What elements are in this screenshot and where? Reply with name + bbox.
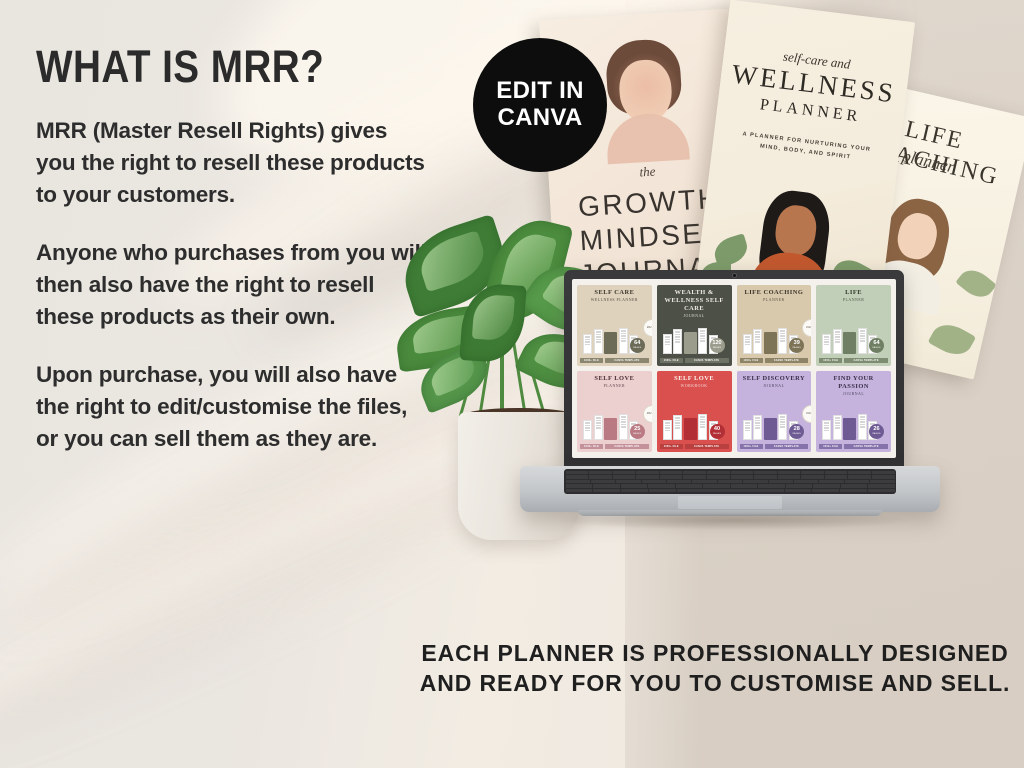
body-paragraph-2: Anyone who purchases from you will then …	[36, 237, 432, 333]
edit-in-canva-badge[interactable]: EDIT IN CANVA	[473, 38, 607, 172]
canva-template-button[interactable]: CANVA TEMPLATE	[844, 358, 888, 364]
page-count-label: PAGES	[793, 347, 801, 349]
page-count-label: PAGES	[872, 433, 880, 435]
keyboard-key[interactable]	[566, 484, 593, 488]
file-count-button[interactable]: 1000+ FILE	[660, 358, 683, 364]
cover-blurb: A PLANNER FOR NURTURING YOUR MIND, BODY,…	[736, 130, 875, 166]
keyboard-key[interactable]	[667, 480, 691, 484]
keyboard-key[interactable]	[825, 475, 848, 479]
keyboard-key[interactable]	[621, 484, 648, 488]
canva-template-button[interactable]: CANVA TEMPLATE	[605, 444, 649, 450]
keyboard-key[interactable]	[566, 471, 589, 475]
product-card-title: SELF DISCOVERY	[740, 375, 809, 383]
page-count-label: PAGES	[713, 433, 721, 435]
page-count-badge: 26PAGES	[869, 424, 884, 439]
keyboard-key[interactable]	[848, 471, 871, 475]
keyboard-key[interactable]	[731, 471, 754, 475]
product-card-buttons: 1000+ FILECANVA TEMPLATE	[819, 358, 888, 364]
keyboard-key[interactable]	[642, 480, 666, 484]
keyboard-key[interactable]	[703, 484, 730, 488]
product-card-buttons: 1000+ FILECANVA TEMPLATE	[580, 444, 649, 450]
product-card-preview: 120PAGES	[660, 321, 729, 356]
leaf-shape	[955, 264, 997, 304]
keyboard-key[interactable]	[731, 484, 758, 488]
keyboard-key[interactable]	[566, 489, 593, 493]
product-card[interactable]: LIFE COACHINGPLANNER39PAGES1000+ FILECAN…	[737, 285, 812, 366]
keyboard-key[interactable]	[718, 480, 742, 484]
keyboard-key[interactable]	[613, 475, 636, 479]
product-card[interactable]: FIND YOUR PASSIONJOURNAL26PAGES1000+ FIL…	[816, 371, 891, 452]
product-card-subtitle: WELLNESS PLANNER	[580, 298, 649, 302]
page-thumbnail	[833, 415, 842, 440]
bottom-tagline: EACH PLANNER IS PROFESSIONALLY DESIGNED …	[418, 638, 1012, 699]
page-thumbnails	[583, 414, 638, 440]
keyboard-key[interactable]	[848, 475, 871, 479]
product-card-title: LIFE	[819, 289, 888, 297]
keyboard-key[interactable]	[801, 475, 824, 479]
page-thumbnail	[673, 329, 682, 354]
product-card-buttons: 1000+ FILECANVA TEMPLATE	[580, 358, 649, 364]
page-count-badge: 25PAGES	[630, 424, 645, 439]
keyboard-key[interactable]	[589, 471, 612, 475]
product-card-preview: 64PAGES	[580, 305, 649, 356]
keyboard-key[interactable]	[819, 480, 843, 484]
product-card-title: SELF LOVE	[580, 375, 649, 383]
keyboard-key[interactable]	[841, 484, 868, 488]
keyboard-key[interactable]	[613, 471, 636, 475]
product-card-subtitle: PLANNER	[740, 298, 809, 302]
page-thumbnail	[858, 414, 867, 440]
file-count-button[interactable]: 1000+ FILE	[740, 358, 763, 364]
page-thumbnail	[698, 414, 707, 440]
page-count-badge: 28PAGES	[789, 424, 804, 439]
keyboard[interactable]	[564, 469, 896, 494]
page-thumbnails	[663, 414, 718, 440]
page-thumbnail-cover	[764, 332, 777, 354]
keyboard-key[interactable]	[621, 489, 648, 493]
page-count-label: PAGES	[872, 347, 880, 349]
keyboard-key[interactable]	[754, 475, 777, 479]
page-thumbnail	[619, 414, 628, 440]
file-count-button[interactable]: 1000+ FILE	[580, 444, 603, 450]
product-card[interactable]: LIFEPLANNER64PAGES1000+ FILECANVA TEMPLA…	[816, 285, 891, 366]
laptop-mockup: SELF CAREWELLNESS PLANNER64PAGES1000+ FI…	[520, 270, 940, 560]
keyboard-key[interactable]	[566, 475, 589, 479]
cover-wellness-planner: self-care and WELLNESS PLANNER A PLANNER…	[695, 0, 915, 312]
laptop-lid: SELF CAREWELLNESS PLANNER64PAGES1000+ FI…	[564, 270, 904, 470]
keyboard-key[interactable]	[845, 480, 869, 484]
product-card[interactable]: SELF DISCOVERYJOURNAL28PAGES1000+ FILECA…	[737, 371, 812, 452]
product-card-title: LIFE COACHING	[740, 289, 809, 297]
keyboard-key[interactable]	[868, 484, 895, 488]
product-card-subtitle: PLANNER	[580, 384, 649, 388]
keyboard-key[interactable]	[660, 471, 683, 475]
page-thumbnail-cover	[604, 418, 617, 440]
page-count-badge: 120PAGES	[710, 338, 725, 353]
page-thumbnail-cover	[604, 332, 617, 354]
illustration-woman	[597, 37, 694, 160]
keyboard-key[interactable]	[794, 480, 818, 484]
product-card-subtitle: JOURNAL	[819, 392, 888, 396]
product-card-buttons: 1000+ FILECANVA TEMPLATE	[660, 358, 729, 364]
page-title: WHAT IS MRR?	[36, 44, 377, 89]
page-thumbnail	[673, 415, 682, 440]
poster-canvas: WHAT IS MRR? MRR (Master Resell Rights) …	[0, 0, 1024, 768]
keyboard-key[interactable]	[754, 471, 777, 475]
left-copy-block: WHAT IS MRR? MRR (Master Resell Rights) …	[36, 44, 432, 454]
keyboard-key[interactable]	[683, 471, 706, 475]
keyboard-key[interactable]	[872, 471, 895, 475]
keyboard-key[interactable]	[593, 484, 620, 488]
product-card-title: SELF CARE	[580, 289, 649, 297]
page-thumbnail	[753, 415, 762, 440]
file-count-button[interactable]: 1000+ FILE	[740, 444, 763, 450]
product-card[interactable]: SELF LOVEWORKBOOK40PAGES1000+ FILECANVA …	[657, 371, 732, 452]
page-thumbnail	[778, 328, 787, 354]
keyboard-key[interactable]	[707, 475, 730, 479]
keyboard-key[interactable]	[648, 484, 675, 488]
page-count-label: PAGES	[633, 433, 641, 435]
page-thumbnail-cover	[684, 332, 697, 354]
page-count-label: PAGES	[633, 347, 641, 349]
canva-template-button[interactable]: CANVA TEMPLATE	[685, 444, 729, 450]
canva-badge-line-1: EDIT IN	[496, 78, 583, 105]
keyboard-key[interactable]	[786, 484, 813, 488]
laptop-shadow	[560, 514, 910, 530]
page-thumbnail	[822, 334, 831, 354]
keyboard-key[interactable]	[677, 489, 784, 493]
keyboard-key[interactable]	[707, 471, 730, 475]
page-thumbnails	[822, 414, 877, 440]
product-card-preview: 64PAGES	[819, 305, 888, 356]
keyboard-key[interactable]	[825, 471, 848, 475]
keyboard-row	[566, 471, 895, 475]
product-card[interactable]: SELF CAREWELLNESS PLANNER64PAGES1000+ FI…	[577, 285, 652, 366]
product-card-title: WEALTH & WELLNESS SELF CARE	[660, 289, 729, 313]
keyboard-key[interactable]	[589, 475, 612, 479]
keyboard-key[interactable]	[636, 471, 659, 475]
product-card[interactable]: WEALTH & WELLNESS SELF CAREJOURNAL120PAG…	[657, 285, 732, 366]
product-card-subtitle: PLANNER	[819, 298, 888, 302]
body-paragraph-3: Upon purchase, you will also have the ri…	[36, 359, 432, 455]
keyboard-key[interactable]	[813, 484, 840, 488]
keyboard-key[interactable]	[769, 480, 793, 484]
keyboard-key[interactable]	[743, 480, 767, 484]
product-card-buttons: 1000+ FILECANVA TEMPLATE	[740, 358, 809, 364]
product-card-subtitle: JOURNAL	[660, 314, 729, 318]
keyboard-key[interactable]	[591, 480, 615, 484]
keyboard-key[interactable]	[692, 480, 716, 484]
canva-template-button[interactable]: CANVA TEMPLATE	[765, 444, 809, 450]
body-paragraph-1: MRR (Master Resell Rights) gives you the…	[36, 115, 432, 211]
keyboard-key[interactable]	[870, 480, 894, 484]
keyboard-row	[566, 484, 895, 488]
keyboard-key[interactable]	[636, 475, 659, 479]
keyboard-key[interactable]	[676, 484, 703, 488]
product-card-preview: 39PAGES	[740, 305, 809, 356]
page-thumbnails	[822, 328, 877, 354]
keyboard-key[interactable]	[593, 489, 620, 493]
keyboard-row	[566, 480, 895, 484]
file-count-button[interactable]: 1000+ FILE	[819, 358, 842, 364]
product-card-preview: 28PAGES	[740, 391, 809, 442]
keyboard-key[interactable]	[778, 471, 801, 475]
page-thumbnail	[619, 328, 628, 354]
pages-seal-icon: PAGES	[802, 405, 811, 423]
page-count-badge: 64PAGES	[630, 338, 645, 353]
product-card-preview: 26PAGES	[819, 399, 888, 442]
laptop-base	[520, 466, 940, 512]
keyboard-row	[566, 489, 895, 493]
page-thumbnail	[583, 420, 592, 440]
page-thumbnail	[594, 415, 603, 440]
page-thumbnail	[743, 334, 752, 354]
keyboard-key[interactable]	[785, 489, 812, 493]
blush-overlay	[607, 48, 685, 126]
page-thumbnail	[583, 334, 592, 354]
page-thumbnail	[833, 329, 842, 354]
page-count-label: PAGES	[713, 347, 721, 349]
canva-template-button[interactable]: CANVA TEMPLATE	[685, 358, 729, 364]
file-count-button[interactable]: 1000+ FILE	[819, 444, 842, 450]
page-thumbnail-cover	[843, 332, 856, 354]
product-card-subtitle: JOURNAL	[740, 384, 809, 388]
pages-seal-icon: PAGES	[802, 319, 811, 337]
page-thumbnail-cover	[764, 418, 777, 440]
keyboard-key[interactable]	[812, 489, 839, 493]
page-thumbnails	[663, 328, 718, 354]
keyboard-key[interactable]	[801, 471, 824, 475]
page-thumbnail	[858, 328, 867, 354]
product-card-buttons: 1000+ FILECANVA TEMPLATE	[740, 444, 809, 450]
file-count-button[interactable]: 1000+ FILE	[580, 358, 603, 364]
webcam-icon	[732, 273, 737, 278]
page-thumbnail	[743, 420, 752, 440]
keyboard-key[interactable]	[649, 489, 676, 493]
page-count-badge: 40PAGES	[710, 424, 725, 439]
product-card-preview: 25PAGES	[580, 391, 649, 442]
keyboard-key[interactable]	[758, 484, 785, 488]
product-card-title: SELF LOVE	[660, 375, 729, 383]
page-thumbnail	[753, 329, 762, 354]
product-card-title: FIND YOUR PASSION	[819, 375, 888, 391]
keyboard-key[interactable]	[731, 475, 754, 479]
keyboard-key[interactable]	[840, 489, 867, 493]
keyboard-key[interactable]	[778, 475, 801, 479]
page-count-badge: 64PAGES	[869, 338, 884, 353]
page-count-badge: 39PAGES	[789, 338, 804, 353]
keyboard-key[interactable]	[872, 475, 895, 479]
canva-template-button[interactable]: CANVA TEMPLATE	[765, 358, 809, 364]
page-count-label: PAGES	[793, 433, 801, 435]
page-thumbnail-cover	[843, 418, 856, 440]
page-thumbnails	[583, 328, 638, 354]
keyboard-key[interactable]	[683, 475, 706, 479]
product-card-subtitle: WORKBOOK	[660, 384, 729, 388]
laptop-screen[interactable]: SELF CAREWELLNESS PLANNER64PAGES1000+ FI…	[572, 279, 896, 458]
product-grid-row-2: SELF LOVEPLANNER25PAGES1000+ FILECANVA T…	[577, 371, 891, 452]
page-thumbnail	[778, 414, 787, 440]
page-thumbnail	[822, 420, 831, 440]
product-card[interactable]: SELF LOVEPLANNER25PAGES1000+ FILECANVA T…	[577, 371, 652, 452]
canva-template-button[interactable]: CANVA TEMPLATE	[605, 358, 649, 364]
keyboard-key[interactable]	[868, 489, 895, 493]
file-count-button[interactable]: 1000+ FILE	[660, 444, 683, 450]
page-thumbnail-cover	[684, 418, 697, 440]
page-thumbnail	[663, 420, 672, 440]
keyboard-row	[566, 475, 895, 479]
page-thumbnail	[698, 328, 707, 354]
product-grid-row-1: SELF CAREWELLNESS PLANNER64PAGES1000+ FI…	[577, 285, 891, 366]
product-card-buttons: 1000+ FILECANVA TEMPLATE	[819, 444, 888, 450]
canva-template-button[interactable]: CANVA TEMPLATE	[844, 444, 888, 450]
page-thumbnail	[594, 329, 603, 354]
keyboard-key[interactable]	[616, 480, 640, 484]
product-card-preview: 40PAGES	[660, 391, 729, 442]
product-card-buttons: 1000+ FILECANVA TEMPLATE	[660, 444, 729, 450]
page-thumbnail	[663, 334, 672, 354]
trackpad[interactable]	[678, 496, 782, 509]
canva-badge-line-2: CANVA	[497, 105, 582, 132]
keyboard-key[interactable]	[660, 475, 683, 479]
keyboard-key[interactable]	[566, 480, 590, 484]
